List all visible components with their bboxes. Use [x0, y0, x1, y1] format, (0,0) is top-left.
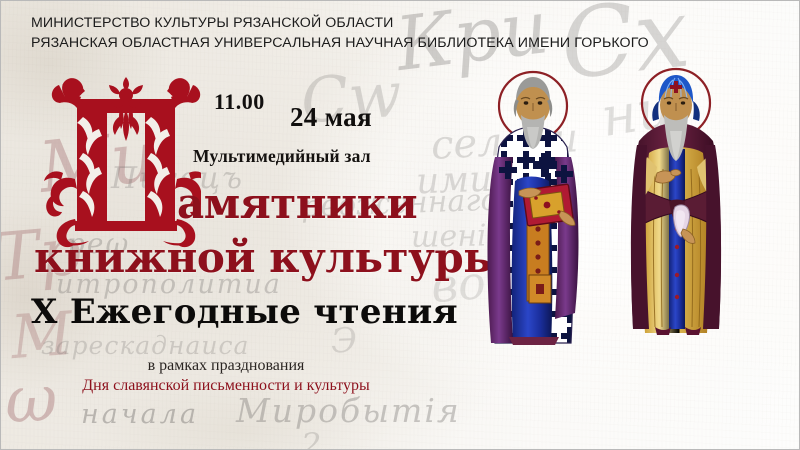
saint-cyril-figure — [488, 72, 579, 345]
organizer-header: МИНИСТЕРСТВО КУЛЬТУРЫ РЯЗАНСКОЙ ОБЛАСТИ … — [31, 13, 771, 53]
saints-cyril-and-methodius-icon — [471, 61, 800, 431]
event-time: 11.00 — [214, 89, 265, 115]
ministry-line: МИНИСТЕРСТВО КУЛЬТУРЫ РЯЗАНСКОЙ ОБЛАСТИ — [31, 13, 771, 33]
library-line: РЯЗАНСКАЯ ОБЛАСТНАЯ УНИВЕРСАЛЬНАЯ НАУЧНА… — [31, 33, 771, 53]
title-line-2: книжной культуры — [34, 237, 505, 279]
title-line-3: X Ежегодные чтения — [31, 295, 458, 329]
poster-canvas: Кри Сх Cw ни селени имити реоженнаго шен… — [0, 0, 800, 450]
event-date: 24 мая — [290, 102, 372, 133]
title-line-1: амятники — [177, 183, 417, 225]
event-venue: Мультимедийный зал — [193, 146, 371, 167]
subtitle-line-2: Дня славянской письменности и культуры — [1, 377, 451, 395]
subtitle-line-1: в рамках празднования — [1, 357, 451, 375]
saint-methodius-figure — [631, 69, 721, 335]
